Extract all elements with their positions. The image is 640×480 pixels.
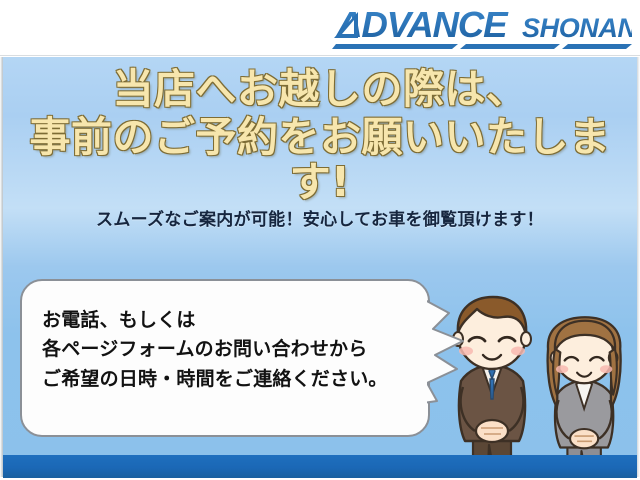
header-bar: ADVANCE SHONAN	[0, 0, 640, 56]
advance-shonan-reservation-banner: ADVANCE SHONAN 当店へお越しの際は、 事前のご予約をお願いいたしま…	[0, 0, 640, 480]
headline-line-1: 当店へお越しの際は、	[3, 67, 637, 111]
hero-panel: 当店へお越しの際は、 事前のご予約をお願いいたします! スムーズなご案内が可能！…	[3, 57, 637, 477]
speech-bubble-line-3: ご希望の日時・時間をご連絡ください。	[42, 365, 414, 394]
bowing-businesswoman-icon	[548, 317, 621, 477]
speech-bubble: お電話、もしくは 各ページフォームのお問い合わせから ご希望の日時・時間をご連絡…	[20, 279, 430, 437]
panel-left-edge	[0, 57, 3, 477]
svg-text:ADVANCE: ADVANCE	[335, 4, 509, 45]
speech-bubble-line-2: 各ページフォームのお問い合わせから	[42, 335, 414, 364]
subtitle: スムーズなご案内が可能！安心してお車を御覧頂けます！	[3, 205, 637, 230]
speech-bubble-line-1: お電話、もしくは	[42, 306, 414, 335]
footer-bar	[3, 455, 637, 478]
advance-shonan-logo-icon: ADVANCE SHONAN	[332, 4, 632, 50]
svg-text:SHONAN: SHONAN	[522, 13, 632, 43]
speech-bubble-text: お電話、もしくは 各ページフォームのお問い合わせから ご希望の日時・時間をご連絡…	[42, 306, 414, 394]
headline: 当店へお越しの際は、 事前のご予約をお願いいたします!	[3, 67, 637, 204]
speech-bubble-tail	[423, 295, 477, 407]
headline-line-2: 事前のご予約をお願いいたします!	[3, 115, 637, 204]
logo[interactable]: ADVANCE SHONAN	[332, 4, 632, 50]
